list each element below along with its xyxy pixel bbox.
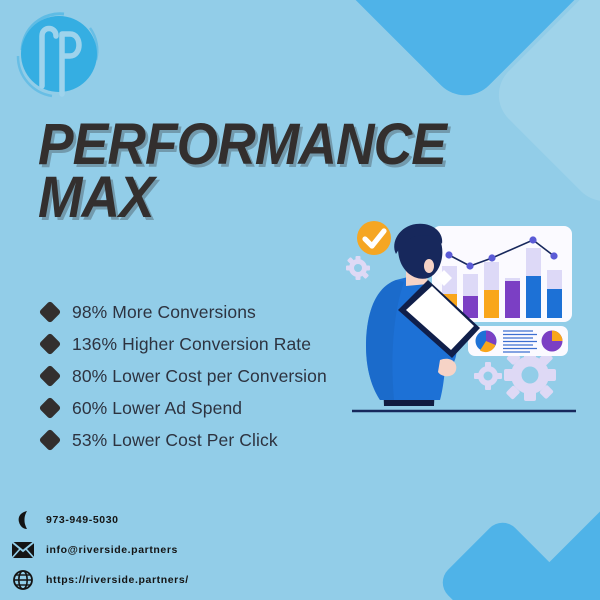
list-item: 136% Higher Conversion Rate — [42, 328, 327, 360]
contact-email[interactable]: info@riverside.partners — [10, 535, 189, 565]
headline-line-1: PERFORMANCE — [38, 118, 424, 171]
list-item-label: 53% Lower Cost Per Click — [72, 430, 278, 451]
list-item: 53% Lower Cost Per Click — [42, 424, 327, 456]
headline-line-2: MAX — [38, 171, 424, 224]
list-item-label: 136% Higher Conversion Rate — [72, 334, 311, 355]
text-lines — [503, 331, 537, 352]
contact-email-text: info@riverside.partners — [46, 544, 178, 556]
poster-canvas: PERFORMANCE MAX 98% More Conversions 136… — [0, 0, 600, 600]
diamond-bullet-icon — [39, 301, 62, 324]
diamond-bullet-icon — [39, 365, 62, 388]
gear-icon-large-bottom — [504, 349, 556, 401]
check-circle-icon — [357, 221, 391, 255]
page-title: PERFORMANCE MAX — [38, 118, 458, 225]
diamond-bullet-icon — [39, 397, 62, 420]
list-item-label: 60% Lower Ad Spend — [72, 398, 242, 419]
envelope-icon — [10, 538, 36, 562]
businessman-analytics-illustration — [340, 218, 590, 423]
list-item: 80% Lower Cost per Conversion — [42, 360, 327, 392]
diamond-bullet-icon — [39, 333, 62, 356]
benefits-list: 98% More Conversions 136% Higher Convers… — [42, 296, 327, 456]
rp-monogram-logo — [12, 8, 104, 100]
pie-card — [468, 326, 568, 356]
contact-phone[interactable]: 973-949-5030 — [10, 505, 189, 535]
contact-phone-text: 973-949-5030 — [46, 514, 119, 526]
globe-icon — [10, 568, 36, 592]
gear-icon-small-top — [346, 256, 370, 280]
list-item: 60% Lower Ad Spend — [42, 392, 327, 424]
list-item-label: 98% More Conversions — [72, 302, 256, 323]
contact-block: 973-949-5030 info@riverside.partners — [10, 505, 189, 595]
list-item: 98% More Conversions — [42, 296, 327, 328]
contact-website[interactable]: https://riverside.partners/ — [10, 565, 189, 595]
contact-website-text: https://riverside.partners/ — [46, 574, 189, 586]
gear-icon-small-bottom — [474, 362, 502, 390]
pie-chart-right — [542, 331, 563, 352]
list-item-label: 80% Lower Cost per Conversion — [72, 366, 327, 387]
phone-icon — [10, 508, 36, 532]
diamond-bullet-icon — [39, 429, 62, 452]
